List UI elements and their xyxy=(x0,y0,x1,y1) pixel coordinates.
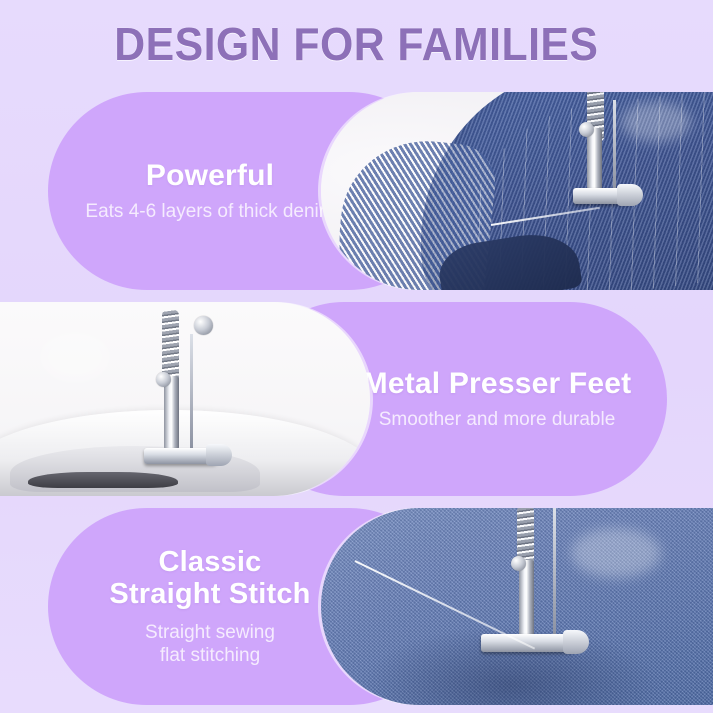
photo-highlight xyxy=(571,528,661,578)
feature-text-block: Classic Straight Stitch Straight sewing … xyxy=(109,546,310,667)
presser-shank xyxy=(587,128,602,190)
presser-screw xyxy=(156,372,171,387)
feature-text-block: Metal Presser Feet Smoother and more dur… xyxy=(363,367,632,431)
feature-photo-metal-foot xyxy=(0,302,370,496)
presser-bar-screw xyxy=(194,316,213,335)
sewing-needle xyxy=(613,100,616,192)
feature-subheading: Straight sewing flat stitching xyxy=(109,621,310,667)
page-title-bar: DESIGN FOR FAMILIES xyxy=(0,0,713,88)
feature-photo-thick-denim xyxy=(321,92,713,290)
feature-photo-straight-stitch xyxy=(321,508,713,705)
photo-artwork xyxy=(321,92,713,290)
presser-shank xyxy=(519,560,534,638)
sewing-needle xyxy=(553,508,556,638)
presser-toe xyxy=(563,630,589,654)
feature-text-block: Powerful Eats 4-6 layers of thick denim xyxy=(85,159,334,223)
photo-highlight xyxy=(40,332,110,382)
presser-toe xyxy=(206,444,232,466)
feature-subheading: Eats 4-6 layers of thick denim xyxy=(85,200,334,223)
photo-highlight xyxy=(621,102,691,142)
feature-subheading: Smoother and more durable xyxy=(363,408,632,431)
presser-screw xyxy=(579,122,594,137)
presser-shank xyxy=(164,376,179,450)
photo-artwork xyxy=(0,302,370,496)
feature-heading: Powerful xyxy=(85,159,334,193)
feature-panel-metal-presser-feet: Metal Presser Feet Smoother and more dur… xyxy=(0,302,713,496)
feature-heading: Classic Straight Stitch xyxy=(109,546,310,611)
feed-dog-slot xyxy=(28,472,178,488)
sewing-needle xyxy=(190,334,193,452)
photo-artwork xyxy=(321,508,713,705)
feature-panel-powerful: Powerful Eats 4-6 layers of thick denim xyxy=(0,92,713,290)
feature-heading: Metal Presser Feet xyxy=(363,367,632,401)
presser-toe xyxy=(617,184,643,206)
feature-panel-classic-straight-stitch: Classic Straight Stitch Straight sewing … xyxy=(0,508,713,705)
feature-poster: DESIGN FOR FAMILIES Powerful Eats 4-6 la… xyxy=(0,0,713,713)
page-title: DESIGN FOR FAMILIES xyxy=(114,17,598,71)
presser-screw xyxy=(511,556,526,571)
